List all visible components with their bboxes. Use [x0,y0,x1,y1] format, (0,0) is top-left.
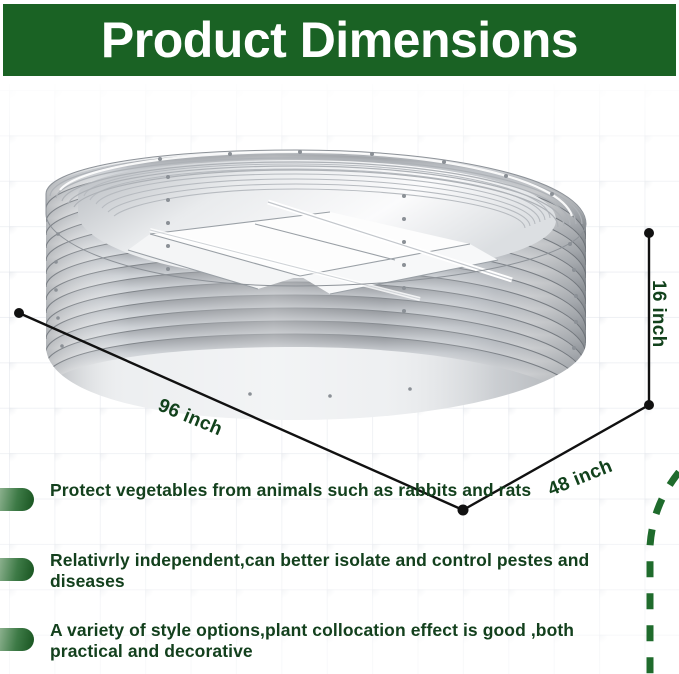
feature-text: Protect vegetables from animals such as … [50,480,650,501]
feature-text: A variety of style options,plant colloca… [50,620,650,662]
feature-list: Protect vegetables from animals such as … [0,480,679,674]
dimension-label-height: 16 inch [647,280,669,348]
feature-item: Relativrly independent,can better isolat… [0,550,679,620]
dashed-arc-path [650,472,679,674]
page-title: Product Dimensions [101,15,578,65]
product-illustration [0,84,679,504]
feature-item: Protect vegetables from animals such as … [0,480,679,550]
feature-item: A variety of style options,plant colloca… [0,620,679,674]
decorative-dashed-arc [619,470,679,674]
product-dimensions-infographic: Product Dimensions [0,0,679,674]
pill-bullet-icon [0,488,34,511]
pill-bullet-icon [0,558,34,581]
pill-bullet-icon [0,628,34,651]
feature-text: Relativrly independent,can better isolat… [50,550,650,592]
header-banner: Product Dimensions [3,4,676,76]
